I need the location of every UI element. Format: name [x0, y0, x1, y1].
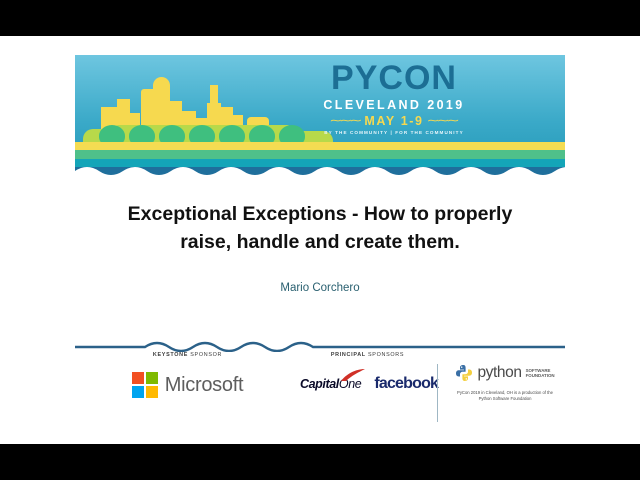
speaker-name: Mario Corchero	[0, 282, 640, 294]
keystone-label-bold: KEYSTONE	[153, 352, 188, 358]
capital-one-swoosh-icon	[340, 368, 366, 382]
psf-column: python SOFTWARE FOUNDATION PyCon 2019 in…	[445, 352, 565, 403]
microsoft-logo: Microsoft	[75, 372, 300, 398]
keystone-label-rest: SPONSOR	[188, 352, 222, 358]
keystone-sponsor-column: KEYSTONE SPONSOR Microsoft	[75, 352, 300, 398]
pycon-banner: PYCON CLEVELAND 2019 ⁓⁓⁓ MAY 1-9 ⁓⁓⁓ BY …	[75, 55, 565, 177]
presentation-viewer: PYCON CLEVELAND 2019 ⁓⁓⁓ MAY 1-9 ⁓⁓⁓ BY …	[0, 0, 640, 480]
facebook-wordmark: facebook	[374, 375, 438, 393]
cleveland-skyline-graphic	[83, 69, 343, 151]
microsoft-wordmark: Microsoft	[165, 374, 243, 397]
slide-canvas: PYCON CLEVELAND 2019 ⁓⁓⁓ MAY 1-9 ⁓⁓⁓ BY …	[0, 36, 640, 444]
psf-sub-line-2: FOUNDATION	[526, 373, 555, 379]
pycon-dates: MAY 1-9	[364, 114, 423, 128]
pycon-wordmark-block: PYCON CLEVELAND 2019 ⁓⁓⁓ MAY 1-9 ⁓⁓⁓ BY …	[319, 61, 469, 135]
letterbox-top	[0, 0, 640, 36]
psf-sub-wordmark: SOFTWARE FOUNDATION	[526, 368, 555, 379]
pycon-tagline: BY THE COMMUNITY | FOR THE COMMUNITY	[319, 130, 469, 135]
wavy-divider	[75, 338, 565, 352]
letterbox-bottom	[0, 444, 640, 480]
psf-vertical-divider	[437, 364, 438, 422]
capital-one-word-a: Capital	[300, 377, 339, 391]
wave-graphic	[75, 163, 565, 177]
microsoft-squares-icon	[132, 372, 158, 398]
principal-logos-row: CapitalOne facebook	[300, 374, 435, 394]
talk-title-line-2: raise, handle and create them.	[0, 229, 640, 257]
python-wordmark: python	[477, 364, 521, 382]
talk-title-line-1: Exceptional Exceptions - How to properly	[0, 201, 640, 229]
talk-title-block: Exceptional Exceptions - How to properly…	[0, 201, 640, 294]
keystone-sponsor-label: KEYSTONE SPONSOR	[75, 352, 300, 358]
principal-label-rest: SPONSORS	[366, 352, 404, 358]
capital-one-logo: CapitalOne	[300, 375, 361, 393]
psf-production-caption: PyCon 2019 in Cleveland, OH is a product…	[445, 390, 565, 403]
principal-label-bold: PRINCIPAL	[331, 352, 366, 358]
principal-sponsors-column: PRINCIPAL SPONSORS CapitalOne facebook	[300, 352, 435, 394]
psf-caption-line-2: Python Software Foundation	[445, 396, 565, 402]
pycon-logo-text: PYCON	[319, 61, 469, 95]
squiggle-left-icon: ⁓⁓⁓	[330, 116, 360, 127]
python-logo-icon	[455, 364, 473, 382]
sponsors-section: KEYSTONE SPONSOR Microsoft PRINCIPAL SPO…	[75, 352, 565, 430]
band-green	[75, 150, 565, 159]
pycon-location-year: CLEVELAND 2019	[319, 98, 469, 112]
pycon-dates-row: ⁓⁓⁓ MAY 1-9 ⁓⁓⁓	[319, 114, 469, 128]
python-software-foundation-logo: python SOFTWARE FOUNDATION	[445, 364, 565, 382]
principal-sponsors-label: PRINCIPAL SPONSORS	[300, 352, 435, 358]
squiggle-right-icon: ⁓⁓⁓	[428, 116, 458, 127]
